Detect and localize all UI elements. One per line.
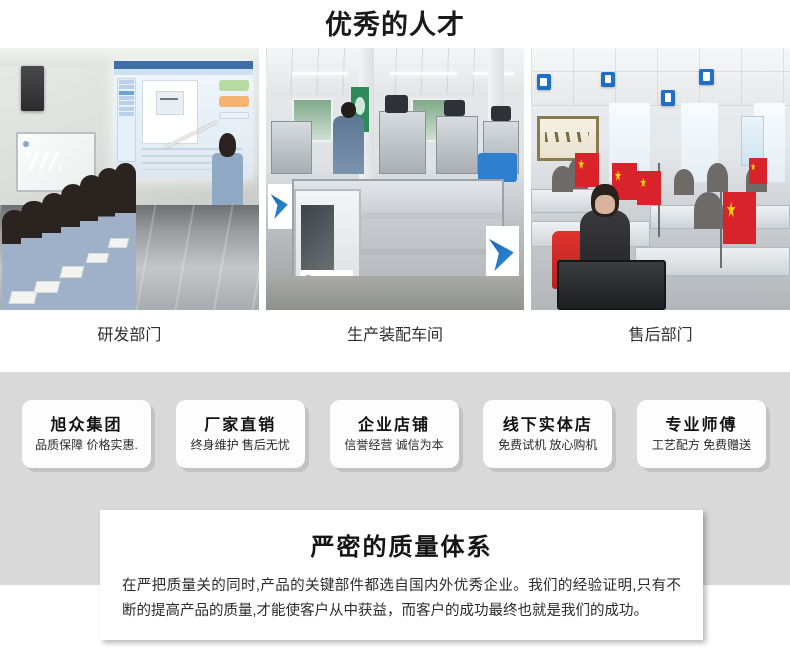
quality-system-panel: 严密的质量体系 在严把质量关的同时,产品的关键部件都选自国内外优秀企业。我们的经… — [100, 510, 703, 640]
factory-worker — [333, 116, 364, 174]
advantage-badges: 旭众集团 品质保障 价格实惠. 厂家直销 终身维护 售后无忧 企业店铺 信誉经营… — [22, 400, 770, 474]
caption-research-department: 研发部门 — [0, 312, 259, 368]
badge-professional-master[interactable]: 专业师傅 工艺配方 免费赠送 — [637, 400, 770, 472]
quality-system-body: 在严把质量关的同时,产品的关键部件都选自国内外优秀企业。我们的经验证明,只有不断… — [122, 574, 681, 624]
chinese-flag-icon — [575, 153, 598, 187]
hanging-sign-icon — [601, 72, 615, 88]
photo-training-room-image — [0, 48, 259, 310]
caption-production-workshop: 生产装配车间 — [266, 312, 525, 368]
photo-assembly-workshop-image — [266, 48, 525, 310]
caption-after-sales-department: 售后部门 — [531, 312, 790, 368]
brand-logo-icon — [268, 184, 291, 229]
desktop-monitor — [557, 260, 666, 310]
hanging-sign-icon — [699, 69, 713, 85]
chinese-flag-icon — [637, 171, 660, 205]
badge-physical-store[interactable]: 线下实体店 免费试机 放心购机 — [483, 400, 616, 472]
chinese-flag-icon — [723, 192, 757, 244]
photo-training-room[interactable] — [0, 48, 259, 310]
badge-group[interactable]: 旭众集团 品质保障 价格实惠. — [22, 400, 155, 472]
machine-unit — [271, 121, 312, 173]
machine-unit — [436, 116, 477, 174]
badge-enterprise-store[interactable]: 企业店铺 信誉经营 诚信为本 — [330, 400, 463, 472]
badge-subtitle: 免费试机 放心购机 — [498, 438, 597, 453]
badge-subtitle: 终身维护 售后无忧 — [191, 438, 290, 453]
badge-title: 企业店铺 — [358, 416, 430, 435]
page-title: 优秀的人才 — [0, 8, 790, 42]
seated-trainees — [0, 163, 160, 310]
badge-title: 厂家直销 — [204, 416, 276, 435]
ceiling-speaker — [21, 66, 44, 111]
badge-title: 线下实体店 — [503, 416, 593, 435]
badge-title: 旭众集团 — [50, 416, 122, 435]
badge-title: 专业师傅 — [665, 416, 737, 435]
hanging-sign-icon — [537, 74, 551, 90]
photo-service-office[interactable] — [531, 48, 790, 310]
promo-page: 优秀的人才 — [0, 0, 790, 669]
photo-assembly-workshop[interactable] — [266, 48, 525, 310]
machine-unit — [379, 111, 426, 174]
chinese-flag-icon — [749, 158, 767, 184]
quality-system-title: 严密的质量体系 — [100, 527, 703, 562]
hanging-sign-icon — [661, 90, 675, 106]
badge-subtitle: 工艺配方 免费赠送 — [652, 438, 751, 453]
parts-bin — [478, 153, 517, 182]
badge-factory-direct[interactable]: 厂家直销 终身维护 售后无忧 — [176, 400, 309, 472]
photo-service-office-image — [531, 48, 790, 310]
photo-captions: 研发部门 生产装配车间 售后部门 — [0, 312, 790, 368]
badge-subtitle: 品质保障 价格实惠. — [35, 438, 138, 453]
photo-gallery — [0, 48, 790, 310]
badge-subtitle: 信誉经营 诚信为本 — [344, 438, 443, 453]
